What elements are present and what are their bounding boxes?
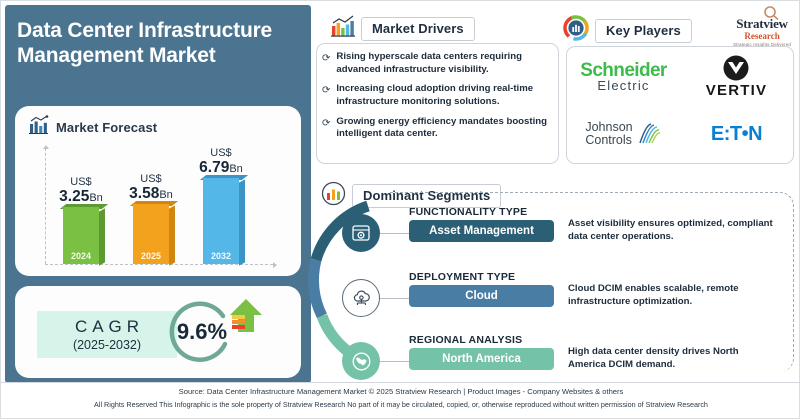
segment-category: REGIONAL ANALYSIS — [409, 334, 522, 346]
driver-text: Rising hyperscale data centers requiring… — [336, 51, 552, 76]
brand-sub: Research — [733, 31, 791, 41]
bar-year-2032: 2032 — [203, 251, 239, 261]
bar-2032: 2032 — [203, 178, 239, 264]
market-drivers-label: Market Drivers — [361, 17, 475, 41]
segment-connector — [380, 298, 410, 299]
segment-connector — [380, 361, 410, 362]
logo-schneider-electric: Schneider Electric — [580, 61, 666, 92]
forecast-bar-chart: US$ 3.25Bn 2024 US$ 3.58Bn — [29, 146, 287, 270]
bar-2024: 2024 — [63, 207, 99, 264]
driver-text: Growing energy efficiency mandates boost… — [336, 116, 552, 141]
segment-row-functionality-type: FUNCTIONALITY TYPE Asset Management Asse… — [316, 208, 798, 260]
driver-item: ⟳ Rising hyperscale data centers requiri… — [322, 51, 552, 76]
donut-chart-icon — [563, 15, 589, 46]
brand-name: Stratview — [733, 16, 791, 32]
bar-chart-icon — [29, 115, 49, 139]
driver-text: Increasing cloud adoption driving real-t… — [336, 83, 552, 108]
vertiv-mark-icon — [719, 55, 753, 81]
logo-text: VERTIV — [706, 83, 767, 98]
segment-value-badge: North America — [409, 348, 554, 370]
logo-grid: Schneider Electric VERTIV Johnson Contro… — [567, 47, 793, 163]
footer: Source: Data Center Infrastructure Manag… — [1, 382, 800, 418]
up-arrow-icon — [229, 298, 263, 340]
bar-year-2024: 2024 — [63, 251, 99, 261]
asset-management-icon — [342, 214, 380, 252]
segment-category: FUNCTIONALITY TYPE — [409, 206, 527, 218]
logo-vertiv: VERTIV — [706, 55, 767, 98]
footer-source: Source: Data Center Infrastructure Manag… — [1, 387, 800, 396]
key-players-header: Key Players — [563, 15, 692, 46]
segment-description: Asset visibility ensures optimized, comp… — [568, 218, 778, 244]
dominant-segments-area: FUNCTIONALITY TYPE Asset Management Asse… — [316, 176, 798, 381]
cagr-value: 9.6% — [167, 319, 237, 345]
driver-item: ⟳ Increasing cloud adoption driving real… — [322, 83, 552, 108]
cagr-range: (2025-2032) — [73, 338, 141, 352]
chart-y-axis — [45, 148, 46, 264]
market-drivers-box: ⟳ Rising hyperscale data centers requiri… — [316, 43, 559, 164]
bar-value-label-2024: US$ 3.25Bn — [59, 177, 103, 205]
logo-text: E:T•N — [711, 124, 762, 144]
logo-eaton: E:T•N — [711, 124, 762, 144]
bar-2025: 2025 — [133, 204, 169, 264]
johnson-controls-mark-icon — [636, 121, 662, 147]
logo-text: Schneider — [580, 61, 666, 80]
segment-row-deployment-type: DEPLOYMENT TYPE Cloud Cloud DCIM enables… — [316, 273, 798, 325]
globe-icon — [342, 342, 380, 380]
key-players-box: Schneider Electric VERTIV Johnson Contro… — [566, 46, 794, 164]
bar-group-2025: US$ 3.58Bn 2025 — [125, 174, 177, 264]
title-wrap: Data Center Infrastructure Management Ma… — [5, 19, 311, 69]
logo-text: Controls — [585, 134, 632, 147]
market-forecast-card: Market Forecast US$ 3.25Bn 2024 — [15, 106, 301, 276]
refresh-bullet-icon: ⟳ — [322, 118, 330, 141]
cagr-label: CAGR — [70, 317, 144, 337]
driver-item: ⟳ Growing energy efficiency mandates boo… — [322, 116, 552, 141]
segment-description: High data center density drives North Am… — [568, 346, 778, 372]
bar-year-2025: 2025 — [133, 251, 169, 261]
cagr-card: CAGR (2025-2032) 9.6% — [15, 286, 301, 378]
bar-group-2032: US$ 6.79Bn 2032 — [195, 148, 247, 264]
segment-value-badge: Asset Management — [409, 220, 554, 242]
refresh-bullet-icon: ⟳ — [322, 85, 330, 108]
logo-johnson-controls: Johnson Controls — [585, 121, 661, 147]
key-players-label: Key Players — [595, 19, 692, 43]
footer-rights: All Rights Reserved This Infographic is … — [1, 400, 800, 409]
cloud-icon — [342, 279, 380, 317]
market-drivers-header: Market Drivers — [331, 15, 475, 42]
bar-value-label-2032: US$ 6.79Bn — [199, 148, 243, 176]
bar-value-label-2025: US$ 3.58Bn — [129, 174, 173, 202]
bar-group-2024: US$ 3.25Bn 2024 — [55, 177, 107, 264]
cagr-chip: CAGR (2025-2032) — [37, 311, 177, 358]
segment-description: Cloud DCIM enables scalable, remote infr… — [568, 283, 778, 309]
segment-connector — [380, 233, 410, 234]
segment-row-regional-analysis: REGIONAL ANALYSIS North America High dat… — [316, 336, 798, 388]
market-forecast-header: Market Forecast — [15, 106, 301, 139]
refresh-bullet-icon: ⟳ — [322, 53, 330, 76]
left-panel: Data Center Infrastructure Management Ma… — [5, 5, 311, 383]
market-forecast-label: Market Forecast — [56, 120, 157, 135]
segment-value-badge: Cloud — [409, 285, 554, 307]
infographic-root: Data Center Infrastructure Management Ma… — [0, 0, 800, 419]
bar-chart-colored-icon — [331, 15, 355, 42]
brand-logo: Stratview Research Strategic Insights De… — [733, 6, 791, 47]
page-title: Data Center Infrastructure Management Ma… — [17, 19, 299, 69]
segment-category: DEPLOYMENT TYPE — [409, 271, 515, 283]
